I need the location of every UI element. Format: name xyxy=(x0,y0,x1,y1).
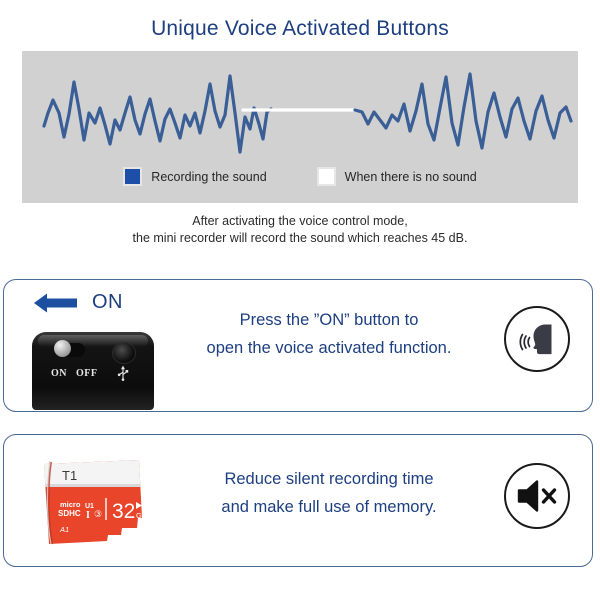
legend-label-recording: Recording the sound xyxy=(151,170,266,184)
on-label: ON xyxy=(92,291,123,314)
card-capacity-unit: GB xyxy=(136,511,147,520)
card-capacity: 32 xyxy=(112,500,135,523)
arrow-left-icon xyxy=(34,292,78,314)
device-switch-labels: ON OFF xyxy=(32,368,154,379)
waveform-panel: Recording the sound When there is no sou… xyxy=(22,51,578,203)
card-model-label: T1 xyxy=(62,468,77,483)
card-body xyxy=(38,456,153,548)
panel-on-text: Press the ”ON” button to open the voice … xyxy=(179,306,479,362)
power-switch-knob[interactable] xyxy=(54,340,71,357)
panel-card-text-line-1: Reduce silent recording time xyxy=(179,465,479,493)
legend-swatch-blue xyxy=(123,167,142,186)
card-brand-micro: micro xyxy=(60,500,81,509)
legend-swatch-white xyxy=(317,167,336,186)
speaker-mute-badge xyxy=(504,463,570,529)
caption-line-2: the mini recorder will record the sound … xyxy=(0,230,600,247)
device-label-off: OFF xyxy=(76,368,98,379)
microphone-jack xyxy=(112,342,136,364)
waveform-legend: Recording the sound When there is no sou… xyxy=(22,167,578,186)
recorder-device-image: ON OFF xyxy=(32,332,154,410)
page-title: Unique Voice Activated Buttons xyxy=(0,17,600,41)
legend-label-silence: When there is no sound xyxy=(345,170,477,184)
panel-card-text-line-2: and make full use of memory. xyxy=(179,493,479,521)
legend-item-silence: When there is no sound xyxy=(317,167,477,186)
device-label-on: ON xyxy=(51,368,67,379)
card-bus-speed: I xyxy=(86,510,90,521)
card-standard-sdhc: SDHC xyxy=(58,509,81,518)
speaking-head-icon xyxy=(515,317,559,361)
waveform-caption: After activating the voice control mode,… xyxy=(0,213,600,247)
speaker-mute-icon xyxy=(516,477,558,515)
card-speed-class: U1 xyxy=(85,503,94,510)
panel-on-text-line-2: open the voice activated function. xyxy=(179,334,479,362)
card-class-mark: ③ xyxy=(94,509,102,519)
microsd-card-image: T1 micro SDHC U1 I ③ 32 GB A1 xyxy=(38,456,153,548)
caption-line-1: After activating the voice control mode, xyxy=(0,213,600,230)
panel-on-text-line-1: Press the ”ON” button to xyxy=(179,306,479,334)
card-app-class: A1 xyxy=(59,525,69,534)
waveform-graphic xyxy=(22,51,578,161)
legend-item-recording: Recording the sound xyxy=(123,167,266,186)
speaking-head-badge xyxy=(504,306,570,372)
panel-card-text: Reduce silent recording time and make fu… xyxy=(179,465,479,521)
usb-icon xyxy=(116,365,130,381)
on-indicator: ON xyxy=(34,291,123,314)
